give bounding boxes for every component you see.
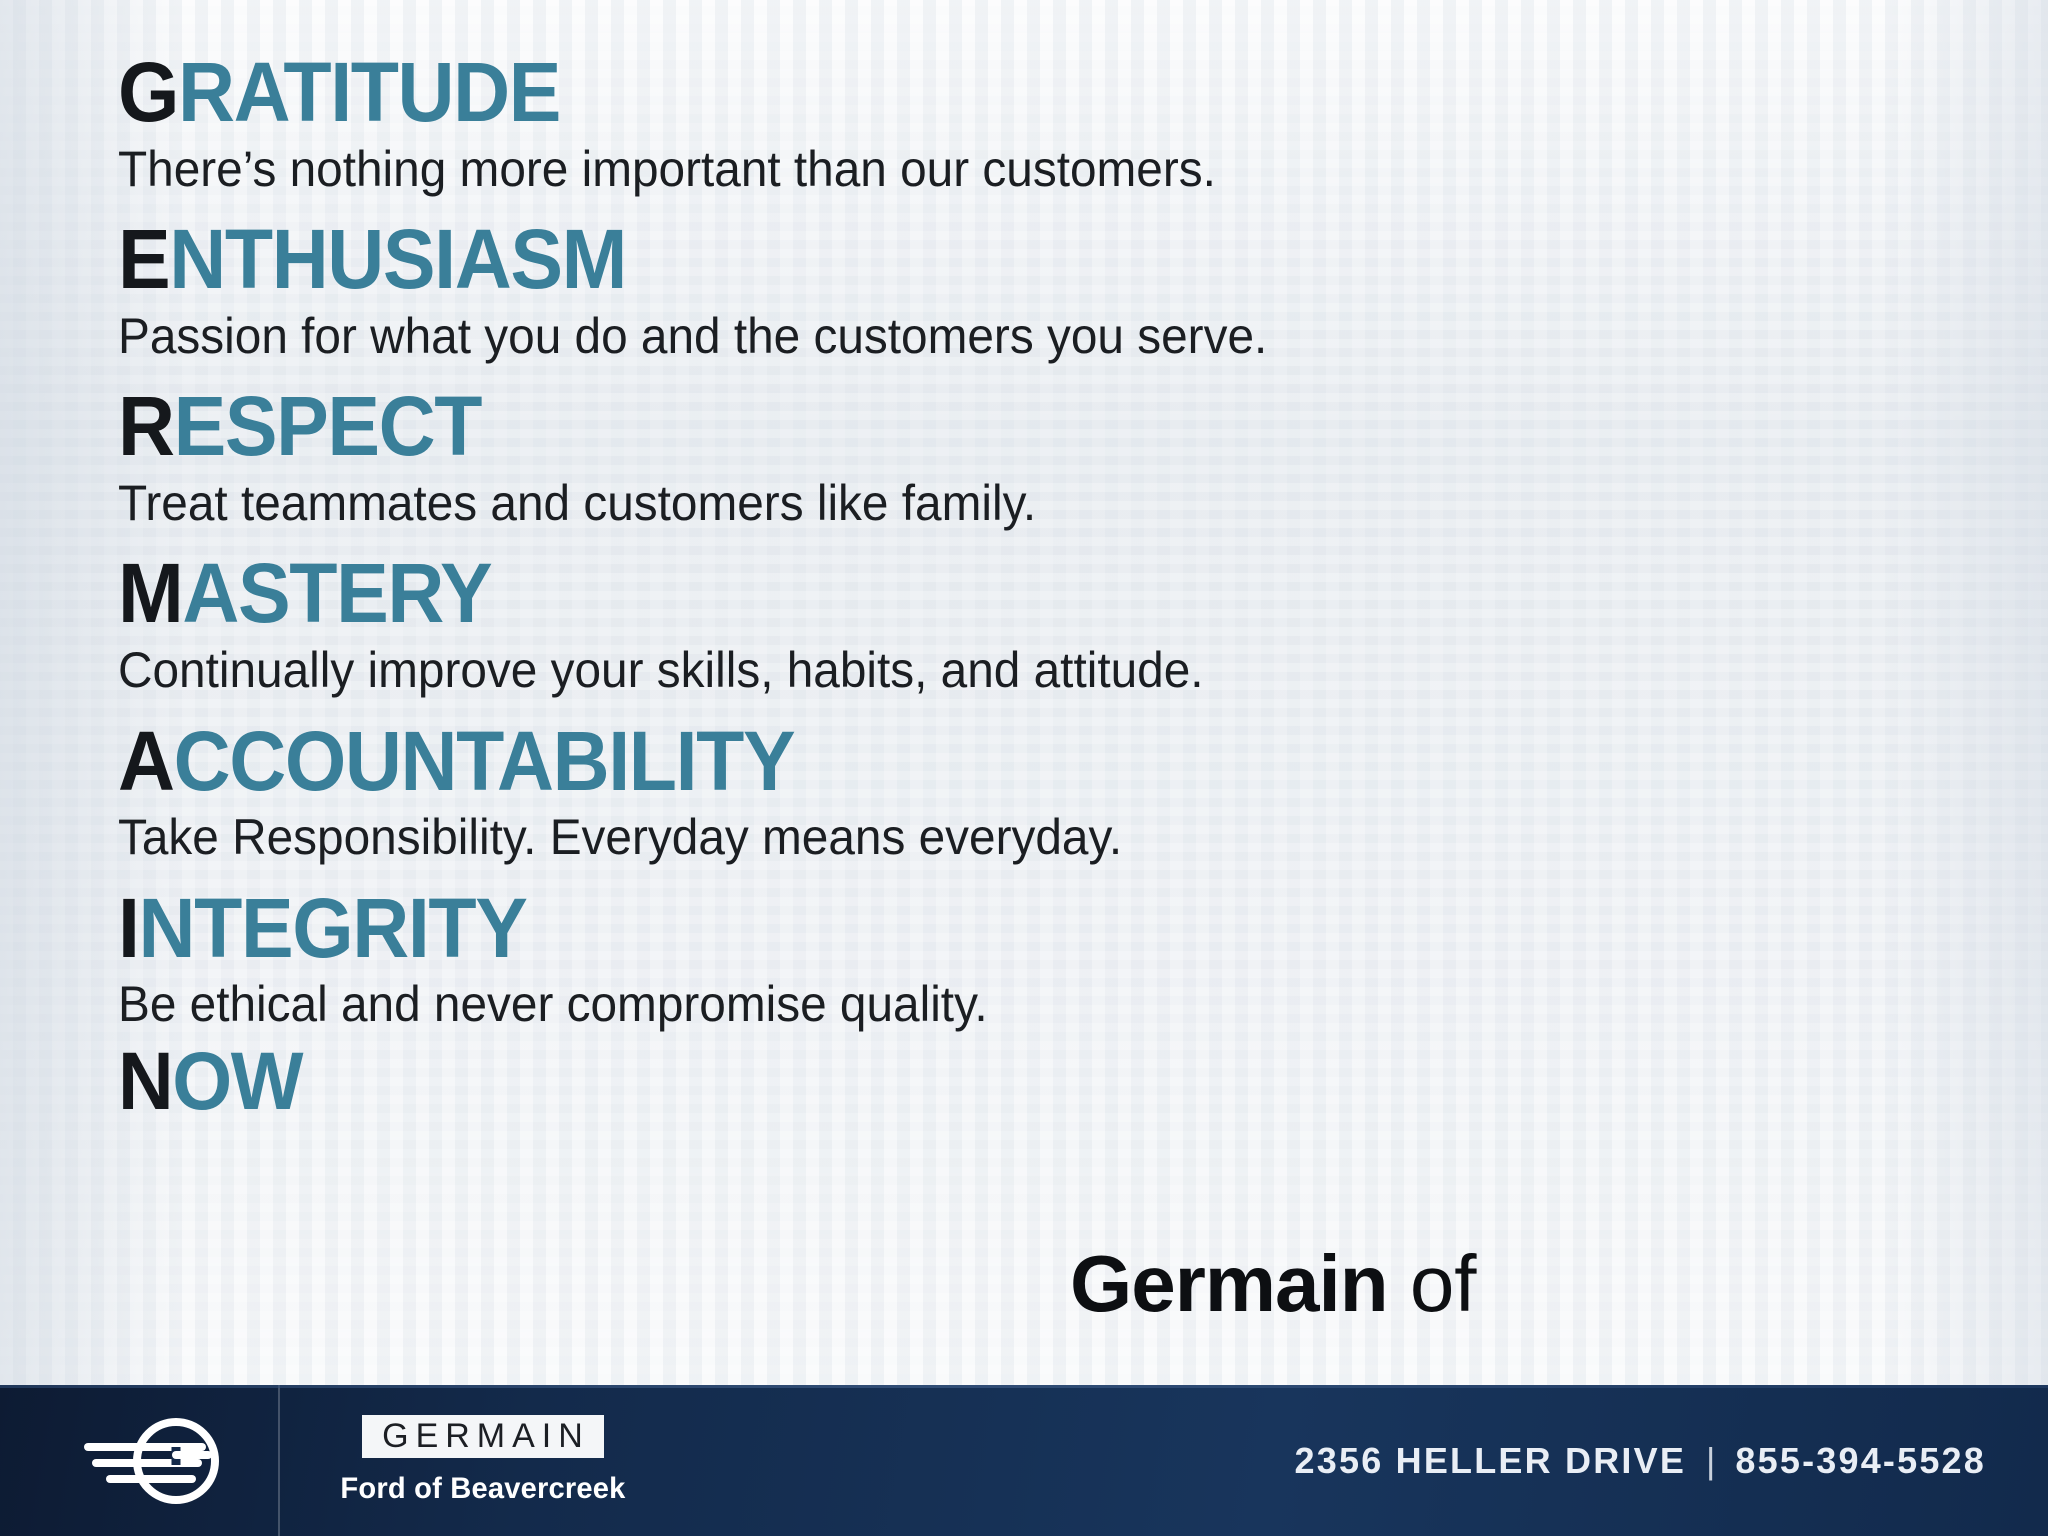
germain-wordmark-box: GERMAIN bbox=[362, 1415, 604, 1458]
value-lead-letter: A bbox=[118, 714, 174, 808]
core-values-list: GRATITUDE There’s nothing more important… bbox=[118, 52, 1948, 1123]
footer-brand-group: GERMAIN Ford of Beavercreek bbox=[0, 1385, 630, 1536]
value-description-integrity: Be ethical and never compromise quality. bbox=[118, 978, 1866, 1031]
value-description-gratitude: There’s nothing more important than our … bbox=[118, 143, 1866, 196]
value-lead-letter: M bbox=[118, 546, 182, 640]
footer-dealer-brand: GERMAIN Ford of Beavercreek bbox=[336, 1415, 630, 1506]
value-lead-letter: G bbox=[118, 45, 178, 139]
value-word-remainder: ASTERY bbox=[182, 546, 491, 640]
footer-top-highlight bbox=[0, 1385, 2048, 1388]
value-description-respect: Treat teammates and customers like famil… bbox=[118, 477, 1866, 530]
value-block-gratitude: GRATITUDE There’s nothing more important… bbox=[118, 52, 1948, 195]
value-description-accountability: Take Responsibility. Everyday means ever… bbox=[118, 811, 1866, 864]
value-block-enthusiasm: ENTHUSIASM Passion for what you do and t… bbox=[118, 219, 1948, 362]
footer-contact-info: 2356 HELLER DRIVE | 855-394-5528 bbox=[1295, 1440, 1986, 1482]
value-word-enthusiasm: ENTHUSIASM bbox=[118, 219, 1838, 300]
value-block-mastery: MASTERY Continually improve your skills,… bbox=[118, 553, 1948, 696]
value-description-mastery: Continually improve your skills, habits,… bbox=[118, 644, 1866, 697]
value-word-integrity: INTEGRITY bbox=[118, 888, 1838, 969]
dealer-phone[interactable]: 855-394-5528 bbox=[1735, 1440, 1986, 1482]
values-poster: GRATITUDE There’s nothing more important… bbox=[0, 0, 2048, 1536]
value-word-accountability: ACCOUNTABILITY bbox=[118, 721, 1838, 802]
value-lead-letter: N bbox=[118, 1036, 172, 1127]
value-block-integrity: INTEGRITY Be ethical and never compromis… bbox=[118, 888, 1948, 1031]
footer-bar: GERMAIN Ford of Beavercreek 2356 HELLER … bbox=[0, 1385, 2048, 1536]
value-word-remainder: OW bbox=[172, 1036, 302, 1127]
value-word-mastery: MASTERY bbox=[118, 553, 1838, 634]
value-description-enthusiasm: Passion for what you do and the customer… bbox=[118, 310, 1866, 363]
value-word-remainder: CCOUNTABILITY bbox=[174, 714, 795, 808]
value-lead-letter: E bbox=[118, 212, 169, 306]
value-lead-letter: I bbox=[118, 881, 139, 975]
value-word-now: NOW bbox=[118, 1041, 1838, 1123]
value-word-gratitude: GRATITUDE bbox=[118, 52, 1838, 133]
value-block-accountability: ACCOUNTABILITY Take Responsibility. Ever… bbox=[118, 721, 1948, 864]
value-block-respect: RESPECT Treat teammates and customers li… bbox=[118, 386, 1948, 529]
germain-of-bold: Germain bbox=[1070, 1239, 1388, 1328]
germain-of-wordmark: Germain of bbox=[1070, 1244, 1477, 1324]
value-word-remainder: NTEGRITY bbox=[139, 881, 527, 975]
value-word-remainder: ESPECT bbox=[174, 379, 481, 473]
dealer-name-label: Ford of Beavercreek bbox=[340, 1472, 625, 1506]
germain-of-light: of bbox=[1410, 1239, 1477, 1328]
footer-vertical-divider bbox=[278, 1385, 280, 1536]
germain-g-swoosh-icon bbox=[78, 1409, 230, 1513]
value-word-respect: RESPECT bbox=[118, 386, 1838, 467]
value-word-remainder: NTHUSIASM bbox=[169, 212, 626, 306]
value-lead-letter: R bbox=[118, 379, 174, 473]
contact-separator: | bbox=[1706, 1440, 1715, 1482]
dealer-address: 2356 HELLER DRIVE bbox=[1295, 1440, 1687, 1482]
value-word-remainder: RATITUDE bbox=[178, 45, 560, 139]
